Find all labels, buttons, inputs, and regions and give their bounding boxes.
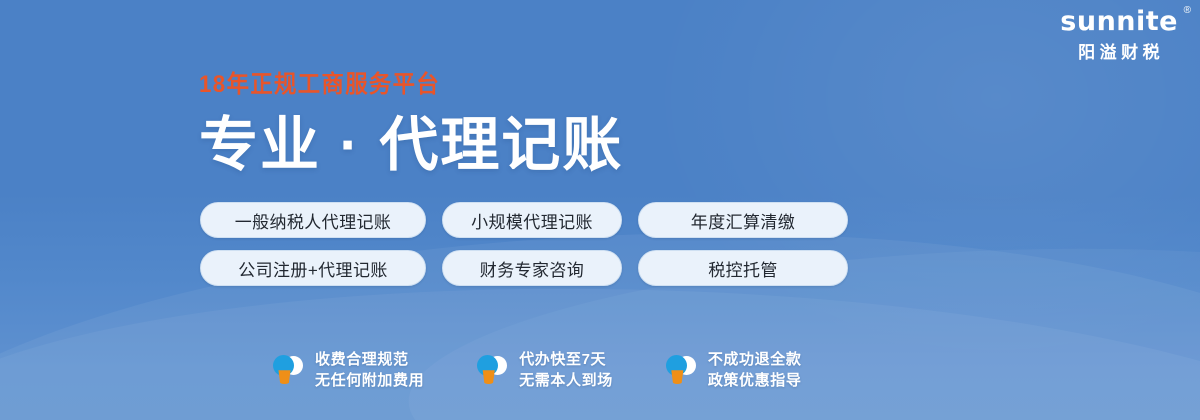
brand-wordmark: sunnite [1060, 8, 1178, 35]
feature-line-1: 收费合理规范 [315, 351, 409, 368]
hero-tagline: 18年正规工商服务平台 [199, 73, 594, 97]
brand-mark-icon [272, 353, 304, 387]
service-pill-row-2: 公司注册+代理记账 财务专家咨询 税控托管 [200, 250, 848, 286]
service-pill-small-scale[interactable]: 小规模代理记账 [442, 202, 622, 238]
feature-item-guarantee: 不成功退全款 政策优惠指导 [665, 349, 802, 392]
brand-chinese-name: 阳溢财税 [1060, 44, 1178, 61]
feature-item-speed: 代办快至7天 无需本人到场 [476, 349, 613, 392]
service-pill-row-1: 一般纳税人代理记账 小规模代理记账 年度汇算清缴 [200, 202, 848, 238]
brand-logo[interactable]: sunnite ® 阳溢财税 [1060, 8, 1178, 61]
feature-item-pricing: 收费合理规范 无任何附加费用 [272, 349, 424, 392]
feature-line-2: 政策优惠指导 [708, 372, 802, 389]
service-pill-grid: 一般纳税人代理记账 小规模代理记账 年度汇算清缴 公司注册+代理记账 财务专家咨… [200, 202, 848, 286]
service-pill-tax-control-hosting[interactable]: 税控托管 [638, 250, 848, 286]
feature-strip: 收费合理规范 无任何附加费用 代办快至7天 无需本人到场 不成功退全款 政策优惠… [272, 349, 801, 392]
brand-mark-icon [665, 353, 697, 387]
feature-line-2: 无需本人到场 [519, 372, 613, 389]
promo-banner: sunnite ® 阳溢财税 18年正规工商服务平台 专业 · 代理记账 一般纳… [0, 0, 1200, 420]
registered-trademark-icon: ® [1184, 6, 1191, 16]
hero-headline: 专业 · 代理记账 [199, 116, 623, 175]
service-pill-annual-settlement[interactable]: 年度汇算清缴 [638, 202, 848, 238]
service-pill-general-taxpayer[interactable]: 一般纳税人代理记账 [200, 202, 426, 238]
feature-line-2: 无任何附加费用 [315, 372, 424, 389]
feature-text-pricing: 收费合理规范 无任何附加费用 [315, 349, 424, 392]
feature-text-speed: 代办快至7天 无需本人到场 [519, 349, 613, 392]
feature-line-1: 不成功退全款 [708, 351, 802, 368]
brand-mark-icon [476, 353, 508, 387]
feature-line-1: 代办快至7天 [519, 351, 606, 368]
hero-text-block: 18年正规工商服务平台 专业 · 代理记账 [199, 73, 623, 175]
service-pill-finance-consulting[interactable]: 财务专家咨询 [442, 250, 622, 286]
background-sweep-2 [0, 268, 1200, 420]
feature-text-guarantee: 不成功退全款 政策优惠指导 [708, 349, 802, 392]
service-pill-company-registration[interactable]: 公司注册+代理记账 [200, 250, 426, 286]
